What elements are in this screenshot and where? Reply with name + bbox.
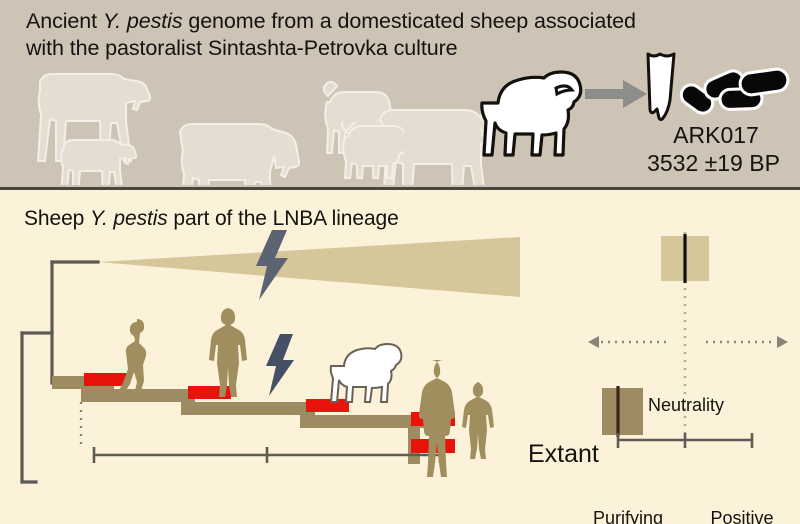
sample-date-label: 3532 ±19 BP bbox=[626, 150, 800, 177]
top-panel: Ancient Y. pestis genome from a domestic… bbox=[0, 0, 800, 190]
lightning-bolt-lnba bbox=[266, 334, 294, 396]
lnba-branch-5 bbox=[181, 396, 189, 408]
right-arrow-icon bbox=[777, 336, 788, 348]
figure-root: Ancient Y. pestis genome from a domestic… bbox=[0, 0, 800, 524]
extant-tip-label: Extant bbox=[528, 440, 599, 469]
headline-part-1: Ancient bbox=[26, 9, 103, 33]
selection-arrow-group bbox=[588, 336, 788, 348]
red-marker-3 bbox=[306, 399, 349, 412]
extant-wedge bbox=[98, 237, 520, 297]
bacteria-rods-icon bbox=[676, 63, 794, 123]
purifying-line-1: Purifying bbox=[593, 508, 663, 524]
human-figure-child-icon bbox=[462, 382, 494, 459]
human-figure-female-icon bbox=[419, 360, 455, 477]
bottom-panel: Sheep Y. pestis part of the LNBA lineage bbox=[0, 190, 800, 524]
tooth-icon bbox=[640, 52, 680, 124]
dnds-axis bbox=[618, 433, 752, 448]
cattle-and-sheep-herd-icon bbox=[28, 60, 488, 185]
left-arrow-icon bbox=[588, 336, 599, 348]
sheep-white-icon bbox=[331, 344, 402, 402]
phylogeny-and-dnds-svg bbox=[0, 190, 800, 524]
time-axis bbox=[94, 447, 440, 463]
lnba-branch-group bbox=[52, 376, 438, 464]
red-marker-1 bbox=[84, 373, 127, 386]
human-figure-walking-icon bbox=[118, 319, 146, 397]
right-arrow-icon bbox=[585, 80, 647, 108]
sample-id-label: ARK017 bbox=[636, 122, 796, 149]
headline-part-2: genome from a domesticated sheep associa… bbox=[182, 9, 635, 33]
positive-selection-label: Positive Selection bbox=[696, 508, 788, 524]
positive-line-1: Positive bbox=[710, 508, 773, 524]
sheep-icon bbox=[480, 65, 585, 175]
lnba-branch-4 bbox=[181, 402, 315, 415]
neutrality-label: Neutrality bbox=[606, 395, 766, 416]
human-figure-standing-icon bbox=[209, 308, 247, 397]
purifying-selection-label: Purifying Selection bbox=[582, 508, 674, 524]
headline-species-italic: Y. pestis bbox=[103, 9, 183, 33]
sheep-silhouette-icon bbox=[334, 122, 404, 180]
headline-line-2: with the pastoralist Sintashta-Petrovka … bbox=[26, 36, 457, 60]
